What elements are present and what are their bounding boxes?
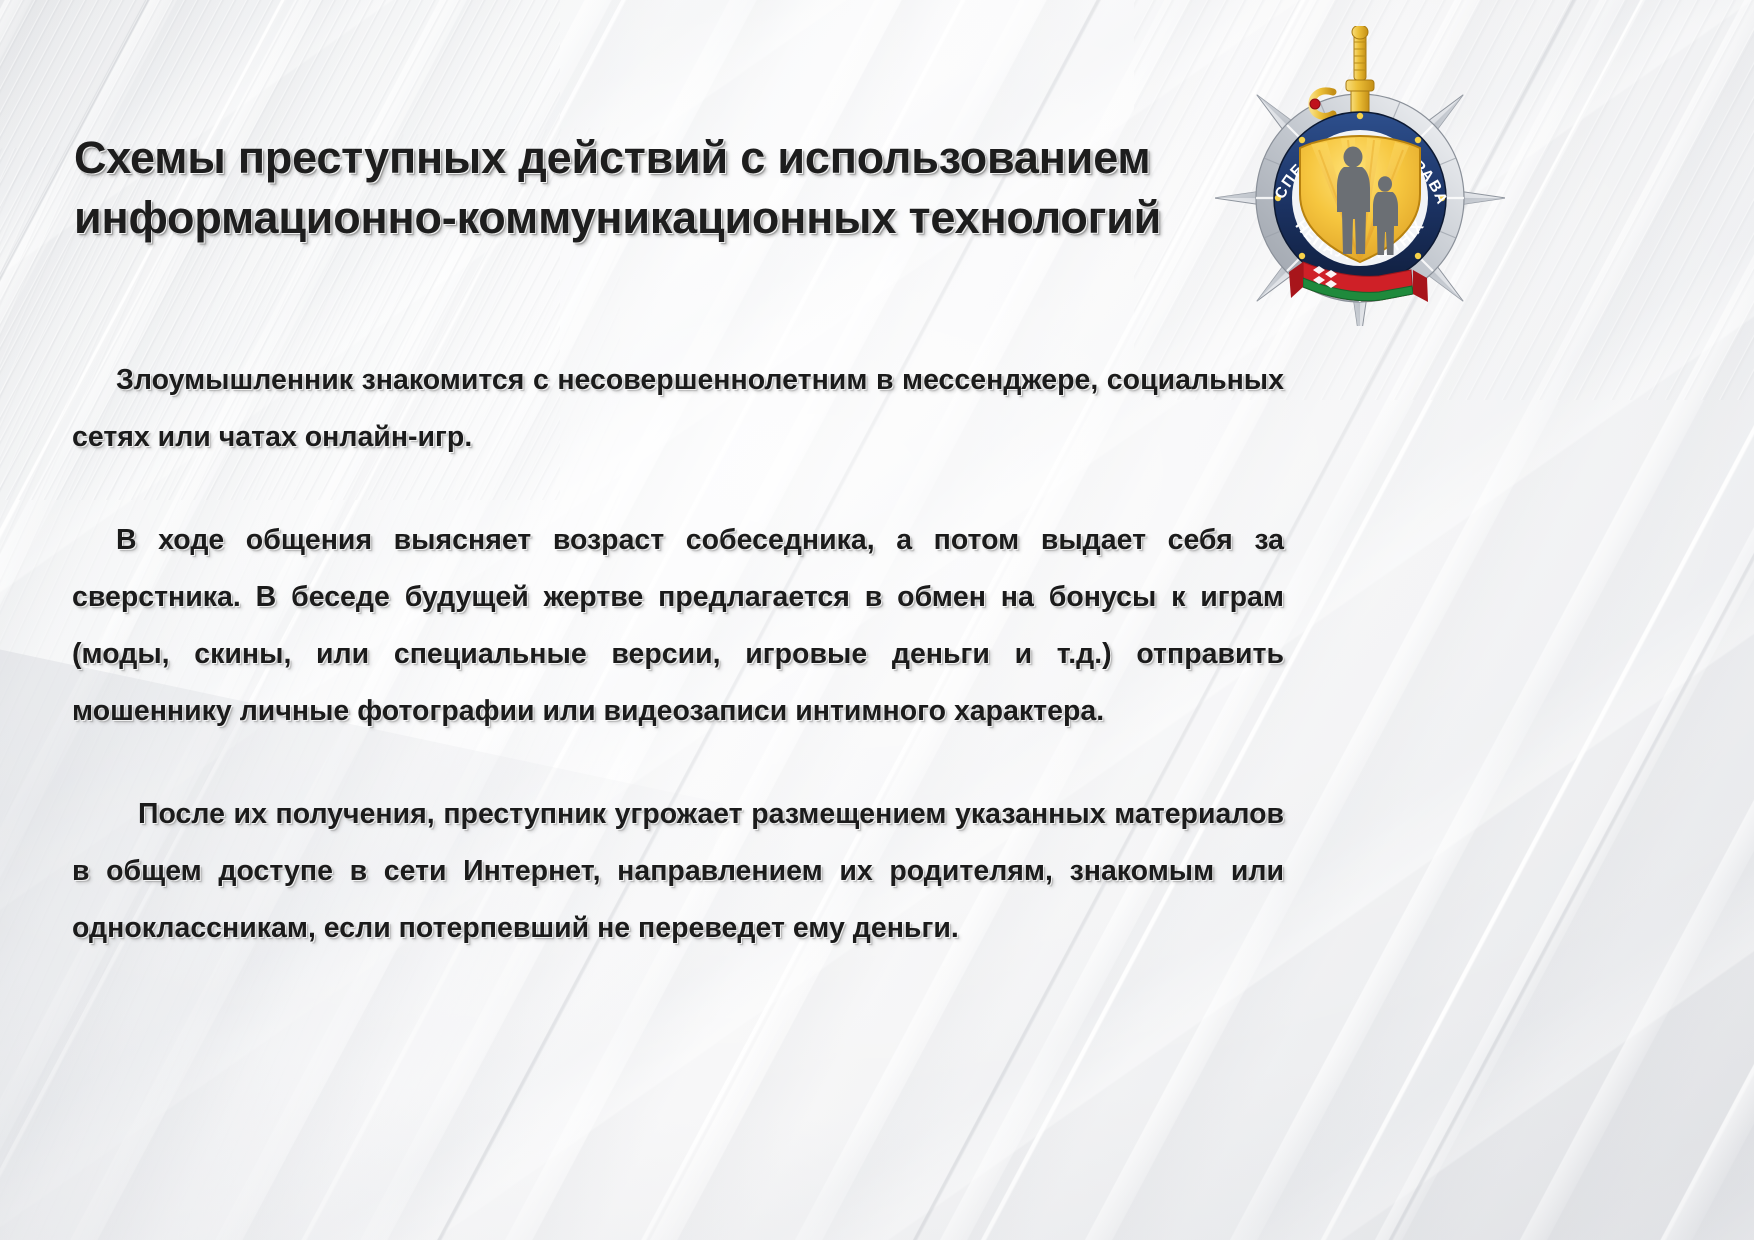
- slide-body: Злоумышленник знакомится с несовершеннол…: [72, 352, 1284, 957]
- slide-title-line-2: информационно-коммуникационных технологи…: [74, 188, 1214, 248]
- body-paragraph-2: В ходе общения выясняет возраст собеседн…: [72, 512, 1284, 740]
- slide-content: Схемы преступных действий с использовани…: [0, 0, 1754, 1240]
- body-paragraph-3: После их получения, преступник угрожает …: [72, 786, 1284, 957]
- inspection-for-minors-affairs-emblem-icon: ІНСПЕКЦЫЯ ПА СПРАВАХ НЕПАЎНАЛЕТНІХ: [1215, 26, 1505, 326]
- presentation-slide: Схемы преступных действий с использовани…: [0, 0, 1754, 1240]
- body-paragraph-1: Злоумышленник знакомится с несовершеннол…: [72, 352, 1284, 466]
- slide-title-line-1: Схемы преступных действий с использовани…: [74, 128, 1214, 188]
- slide-title: Схемы преступных действий с использовани…: [74, 128, 1214, 248]
